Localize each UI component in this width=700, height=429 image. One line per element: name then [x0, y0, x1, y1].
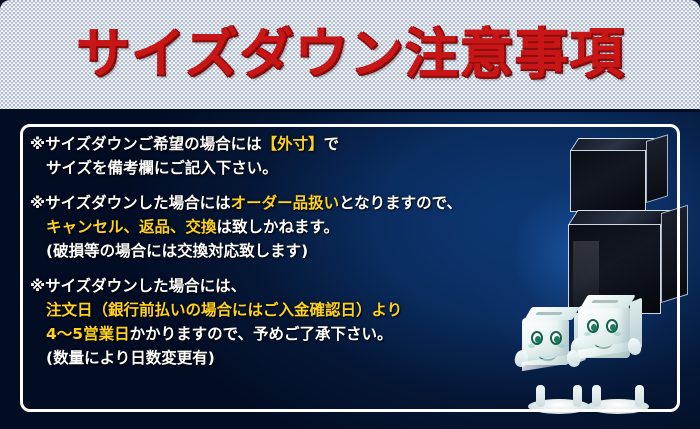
acrylic-display-case-illustration: [568, 138, 700, 318]
notice-text: かかりますので、予めご了承下さい。: [130, 325, 393, 343]
notice-text: (破損等の場合には交換対応致します): [46, 242, 308, 260]
mascot-leg-left: [592, 385, 601, 407]
notice-marker-icon: ※: [30, 191, 45, 215]
notice-text: サイズダウンした場合には: [45, 194, 231, 212]
case-side-face: [646, 134, 668, 203]
mascot-leg-left: [536, 385, 545, 407]
case-side-face: [661, 205, 688, 303]
case-front-face: [570, 150, 646, 212]
mascot-leg-right: [635, 385, 644, 407]
notice-text-highlight: 注文日（銀行前払いの場合にはご入金確認日）より: [46, 301, 402, 319]
notice-item: ※サイズダウンご希望の場合には【外寸】でサイズを備考欄にご記入下さい。: [30, 132, 550, 180]
notice-text-highlight: オーダー品扱い: [231, 194, 340, 212]
mascot-eye-right: [606, 319, 618, 333]
notice-text: サイズを備考欄にご記入下さい。: [46, 159, 278, 177]
mascot-cheek-left: [584, 332, 591, 336]
notice-item: ※サイズダウンした場合には、注文日（銀行前払いの場合にはご入金確認日）より4〜5…: [30, 274, 550, 370]
notice-text: は致しかねます。: [217, 218, 339, 236]
size-down-notice-banner: サイズダウン注意事項: [0, 0, 700, 429]
mascot-slit: [591, 300, 619, 303]
mascot-cheek-right: [614, 332, 621, 336]
mascot-cheek-right: [558, 344, 565, 348]
notice-line: (破損等の場合には交換対応致します): [30, 239, 550, 263]
notice-line: 注文日（銀行前払いの場合にはご入金確認日）より: [30, 298, 550, 322]
notice-text: となりますので、: [339, 194, 462, 212]
notice-text: サイズダウンした場合には、: [45, 277, 246, 295]
notice-text-highlight: 【外寸】: [262, 135, 324, 153]
notice-line: (数量により日数変更有): [30, 346, 550, 370]
notice-line: キャンセル、返品、交換は致しかねます。: [30, 215, 550, 239]
notice-line: ※サイズダウンした場合には、: [30, 274, 550, 298]
notice-marker-icon: ※: [30, 274, 45, 298]
mascot-arm-right: [626, 337, 642, 356]
acrylic-case-small: [570, 138, 668, 212]
mascot-body: [578, 306, 630, 358]
notice-text: (数量により日数変更有): [46, 349, 215, 367]
notice-text-highlight: 4〜5営業日: [46, 325, 130, 343]
notice-list: ※サイズダウンご希望の場合には【外寸】でサイズを備考欄にご記入下さい。※サイズダ…: [30, 132, 550, 381]
mascot-eye-left: [587, 319, 599, 333]
box-mascot-right: [578, 306, 658, 414]
notice-line: サイズを備考欄にご記入下さい。: [30, 156, 550, 180]
notice-line: 4〜5営業日かかりますので、予めご了承下さい。: [30, 322, 550, 346]
notice-item: ※サイズダウンした場合にはオーダー品扱いとなりますので、キャンセル、返品、交換は…: [30, 191, 550, 263]
notice-text: サイズダウンご希望の場合には: [45, 135, 262, 153]
header-band: サイズダウン注意事項: [0, 0, 700, 112]
case-top-face: [568, 210, 671, 225]
notice-text: で: [324, 135, 340, 153]
mascot-eye-right: [550, 331, 562, 345]
notice-line: ※サイズダウンご希望の場合には【外寸】で: [30, 132, 550, 156]
notice-text-highlight: キャンセル、返品、交換: [46, 218, 217, 236]
page-title: サイズダウン注意事項: [0, 0, 700, 108]
notice-marker-icon: ※: [30, 132, 45, 156]
notice-line: ※サイズダウンした場合にはオーダー品扱いとなりますので、: [30, 191, 550, 215]
